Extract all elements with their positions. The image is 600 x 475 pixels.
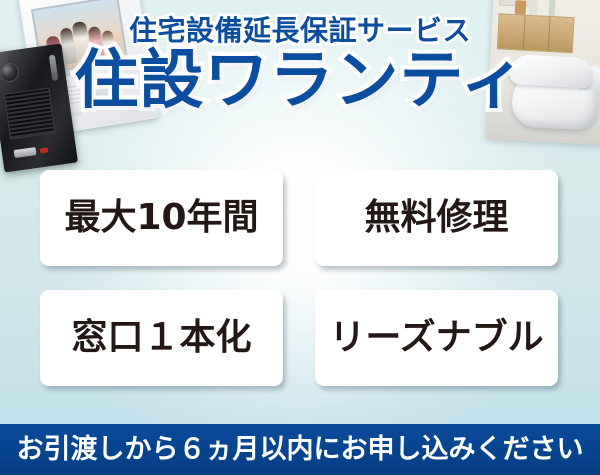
footer-notice-text: お引渡しから６ヵ月以内にお申し込みください: [17, 436, 584, 463]
service-banner: 住宅設備延長保証サービス 住設ワランティ 最大10年間 無料修理 窓口１本化 リ…: [0, 0, 600, 475]
shelf-item: [549, 0, 556, 16]
shelf-item: [515, 0, 527, 15]
feature-grid: 最大10年間 無料修理 窓口１本化 リーズナブル: [40, 170, 558, 386]
station-speaker-grill: [4, 88, 56, 140]
feature-label: 窓口１本化: [71, 320, 251, 356]
cabinet-seam: [523, 16, 526, 50]
footer-notice-bar: お引渡しから６ヵ月以内にお申し込みください: [0, 424, 600, 475]
feature-max-10-years[interactable]: 最大10年間: [40, 170, 283, 266]
station-light-strip: [49, 54, 59, 81]
monitor-dial: [87, 64, 124, 101]
feature-reasonable[interactable]: リーズナブル: [315, 290, 558, 386]
shelf-item: [529, 0, 539, 15]
feature-label: 無料修理: [364, 200, 508, 236]
wood-cabinet: [497, 13, 575, 53]
station-led-indicator: [40, 147, 49, 153]
cabinet-seam: [548, 17, 551, 51]
station-call-button: [14, 147, 37, 158]
feature-free-repair[interactable]: 無料修理: [315, 170, 558, 266]
feature-single-contact[interactable]: 窓口１本化: [40, 290, 283, 386]
toilet-lid: [509, 54, 592, 88]
camera-lens-icon: [0, 62, 20, 83]
feature-label: 最大10年間: [64, 200, 258, 236]
feature-label: リーズナブル: [329, 320, 543, 356]
toilet-photo: [486, 0, 600, 145]
